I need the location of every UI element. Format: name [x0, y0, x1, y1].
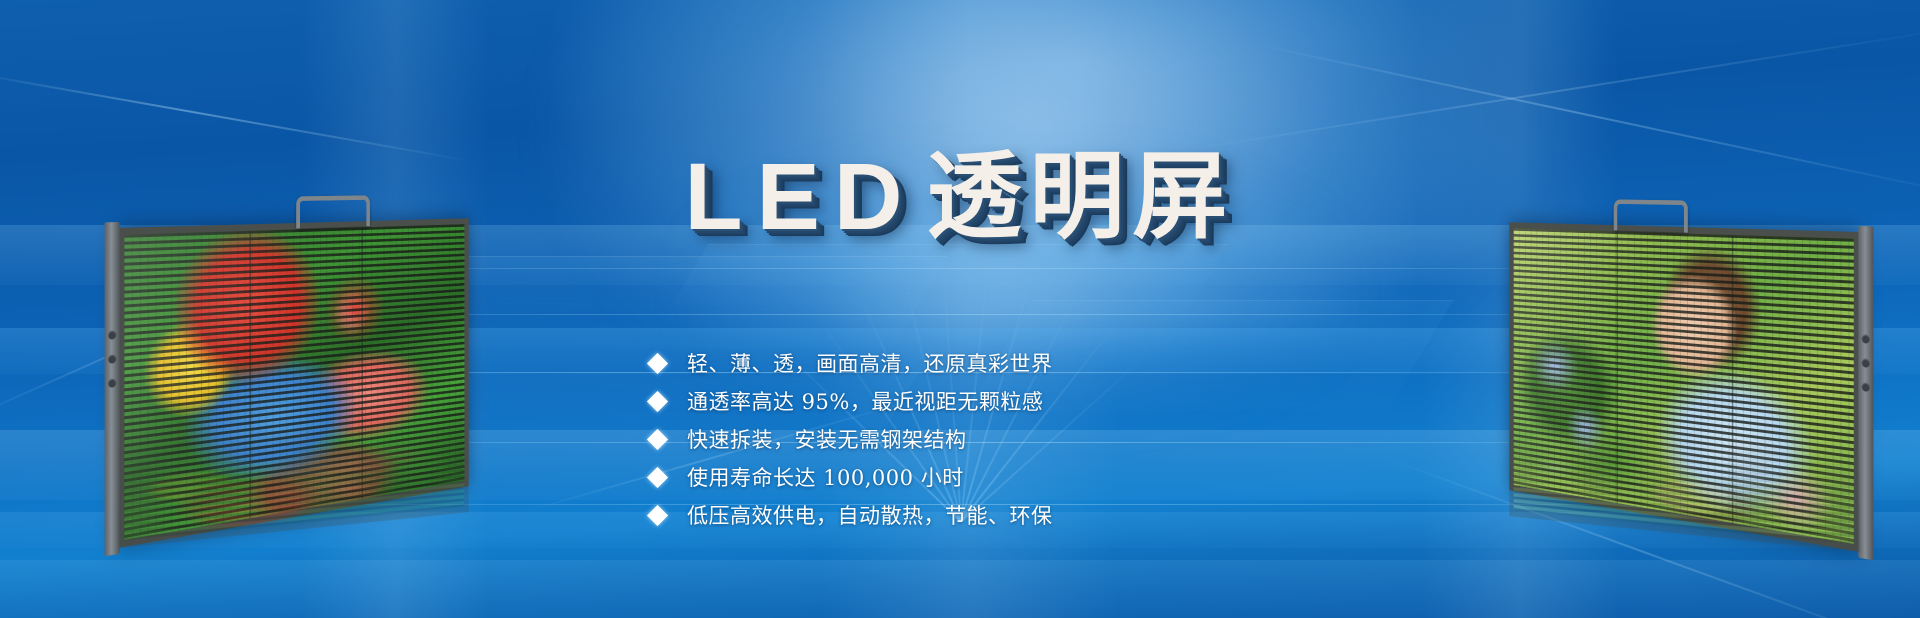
lifting-handle-icon: [296, 195, 370, 228]
light-streak: [1180, 25, 1920, 152]
rail-dot: [108, 330, 116, 340]
feature-item: 使用寿命长达 100,000 小时: [650, 458, 1270, 496]
led-transparent-screen-banner: LED透明屏 轻、薄、透，画面高清，还原真彩世界 通透率高达 95%，最近视距无…: [0, 0, 1920, 618]
feature-item: 快速拆装，安装无需钢架结构: [650, 420, 1270, 458]
feature-text: 快速拆装，安装无需钢架结构: [687, 424, 967, 454]
feature-text: 使用寿命长达 100,000 小时: [687, 462, 964, 492]
led-panel-parrot-reflection: [118, 412, 469, 548]
rail-dot: [1862, 358, 1870, 368]
lifting-handle-icon: [1614, 199, 1688, 232]
background-slab-2: [672, 244, 1229, 305]
diamond-bullet-icon: [647, 390, 668, 411]
reflection-body: [118, 412, 469, 548]
banner-title-en: LED: [684, 144, 916, 250]
feature-list: 轻、薄、透，画面高清，还原真彩世界 通透率高达 95%，最近视距无颗粒感 快速拆…: [650, 344, 1270, 534]
light-streak: [0, 70, 472, 162]
feature-item: 轻、薄、透，画面高清，还原真彩世界: [650, 344, 1270, 382]
diamond-bullet-icon: [647, 352, 668, 373]
reflection-body: [1509, 416, 1860, 552]
feature-item: 通透率高达 95%，最近视距无颗粒感: [650, 382, 1270, 420]
side-rail: [1858, 226, 1873, 560]
feature-text: 低压高效供电，自动散热，节能、环保: [687, 500, 1053, 530]
diamond-bullet-icon: [647, 504, 668, 525]
rail-dot: [1862, 334, 1870, 344]
rail-dot: [1862, 382, 1870, 392]
feature-text: 通透率高达 95%，最近视距无颗粒感: [687, 386, 1043, 416]
reflection-scanlines: [1514, 422, 1854, 545]
diamond-bullet-icon: [647, 466, 668, 487]
reflection-scanlines: [124, 418, 464, 541]
background-band-5: [0, 560, 1920, 618]
banner-title-cn: 透明屏: [926, 142, 1235, 252]
feature-text: 轻、薄、透，画面高清，还原真彩世界: [687, 348, 1053, 378]
led-panel-girl-reflection: [1509, 416, 1860, 552]
rail-dot: [108, 354, 116, 364]
diamond-bullet-icon: [647, 428, 668, 449]
rail-dot: [108, 378, 116, 388]
feature-item: 低压高效供电，自动散热，节能、环保: [650, 496, 1270, 534]
